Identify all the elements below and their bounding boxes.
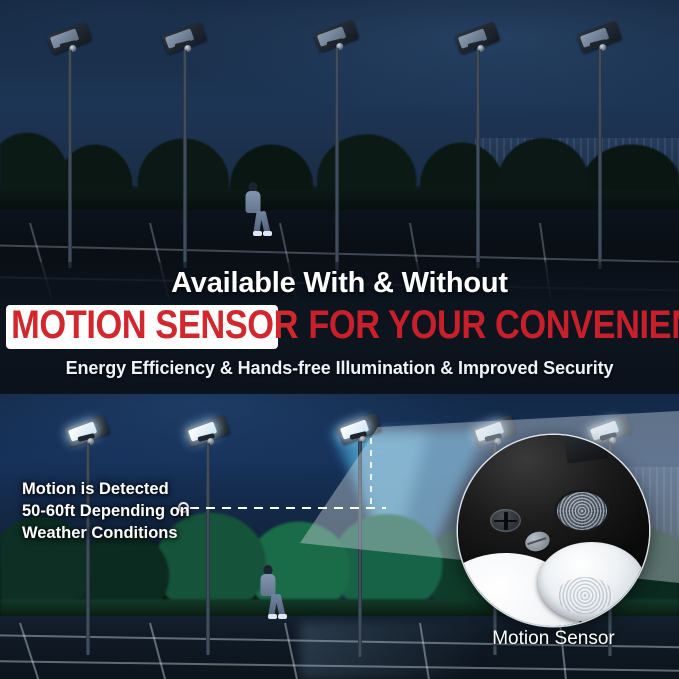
inset-caption: Motion Sensor <box>458 628 649 650</box>
pir-dome-lens-icon <box>538 542 645 622</box>
scene-lights-off <box>0 0 679 300</box>
lamp-pole <box>335 48 339 270</box>
lamp-pole <box>86 443 90 655</box>
callout-line-2: 50-60ft Depending on <box>22 500 190 522</box>
headline-banner: Available With & Without MOTION SENSOR F… <box>0 262 679 394</box>
banner-line-1: Available With & Without <box>0 267 679 300</box>
callout-line-1: Motion is Detected <box>22 478 190 500</box>
motion-sensor-inset <box>458 435 649 626</box>
detection-range-dashed-line <box>190 507 386 509</box>
lamp-pole <box>206 443 210 655</box>
lamp-pole <box>358 441 362 657</box>
lamp-pole <box>68 50 72 268</box>
product-banner-image: Motion is Detected 50-60ft Depending on … <box>0 0 679 679</box>
callout-line-3: Weather Conditions <box>22 522 190 544</box>
headline-highlight-text: MOTION SENSOR <box>11 303 298 348</box>
lamp-pole <box>183 50 187 268</box>
lamp-pole <box>476 50 480 268</box>
detection-range-callout: Motion is Detected 50-60ft Depending on … <box>22 478 190 544</box>
banner-headline-row: MOTION SENSOR FOR YOUR CONVENIENCE <box>0 303 679 351</box>
banner-subline: Energy Efficiency & Hands-free Illuminat… <box>0 358 679 379</box>
lamp-pole <box>598 49 602 269</box>
pole-dashed-guide <box>370 438 372 510</box>
banner-headline: MOTION SENSOR FOR YOUR CONVENIENCE <box>0 303 584 347</box>
headline-rest-text: FOR YOUR CONVENIENCE <box>308 303 679 348</box>
